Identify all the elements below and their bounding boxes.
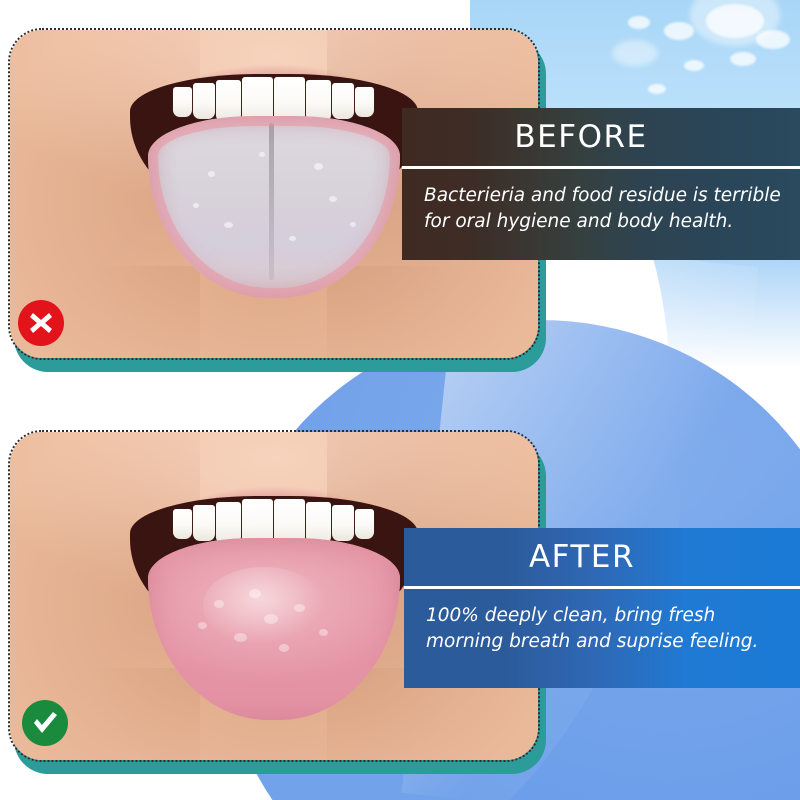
bubble-icon [612,40,658,66]
tooth [332,505,354,541]
bubble-icon [648,84,666,94]
text-panel-after: AFTER 100% deeply clean, bring fresh mor… [404,528,800,688]
status-badge-cross [18,300,64,346]
bubble-icon [684,60,704,71]
tooth [173,87,192,117]
description-before: Bacterieria and food residue is terrible… [402,169,800,250]
bubble-icon [730,52,756,66]
tooth [193,83,215,119]
heading-before: BEFORE [402,108,800,166]
tongue-healthy [148,538,400,720]
heading-after: AFTER [404,528,800,586]
tooth [355,509,374,539]
mouth-after [124,476,424,716]
papilla [249,589,261,598]
bubble-icon [664,22,694,40]
papilla [294,604,305,612]
coating-speck [350,222,356,227]
papilla [234,633,247,642]
tooth [355,87,374,117]
tongue-coated [148,116,400,298]
coating-speck [224,222,233,228]
tooth [173,509,192,539]
tooth [193,505,215,541]
mouth-before [124,54,424,304]
bubble-icon [628,16,650,29]
text-panel-before: BEFORE Bacterieria and food residue is t… [402,108,800,260]
papilla [279,644,289,652]
description-after: 100% deeply clean, bring fresh morning b… [404,589,800,670]
comparison-graphic: BEFORE Bacterieria and food residue is t… [0,0,800,800]
status-badge-check [22,700,68,746]
tooth [332,83,354,119]
papilla [198,622,207,629]
papilla [214,600,224,608]
